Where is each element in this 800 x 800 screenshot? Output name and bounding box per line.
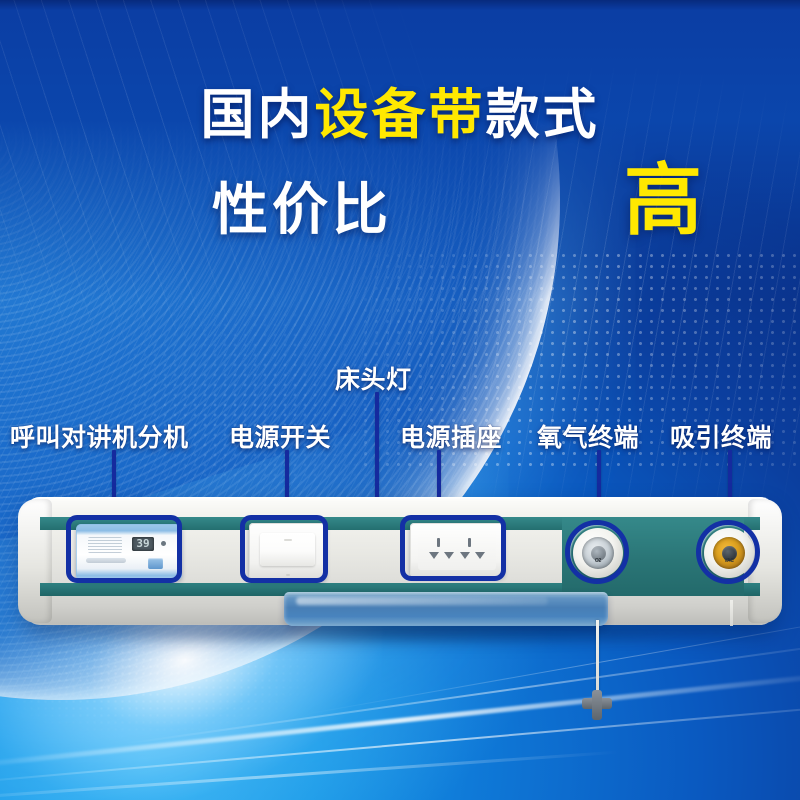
callout-label-oxygen-terminal: 氧气终端 xyxy=(537,418,639,454)
highlight-box-intercom xyxy=(66,515,182,583)
callout-label-suction-terminal: 吸引终端 xyxy=(670,418,772,454)
highlight-circle-suction-terminal xyxy=(696,520,760,584)
headline-part-1: 国内 xyxy=(201,85,315,145)
bed-lamp-diffuser[interactable] xyxy=(284,592,608,626)
cord-plug-icon xyxy=(582,690,612,720)
lamp-highlight xyxy=(296,597,548,605)
headline-line-2: 性价比 高 xyxy=(62,165,738,246)
headline-part-3: 款式 xyxy=(486,85,600,145)
highlight-circle-oxygen-terminal xyxy=(565,520,629,584)
headline-line-1: 国内设备带款式 xyxy=(0,88,800,142)
callout-label-power-switch: 电源开关 xyxy=(229,418,331,454)
plug-stem xyxy=(592,690,602,720)
promo-banner: 国内设备带款式 性价比 高 呼叫对讲机分机 电源开关 床头灯 电源插座 氧气终端… xyxy=(0,0,800,800)
headline-part-2: 设备带 xyxy=(315,85,486,145)
highlight-box-power-socket xyxy=(400,515,506,581)
callout-label-intercom: 呼叫对讲机分机 xyxy=(10,418,189,454)
callout-label-power-socket: 电源插座 xyxy=(400,418,502,454)
headline-high-char: 高 xyxy=(624,165,702,237)
oxygen-pull-cord xyxy=(596,620,599,698)
suction-pull-cord xyxy=(730,600,733,626)
top-edge-band xyxy=(0,0,800,10)
highlight-box-power-switch xyxy=(240,515,328,583)
callout-label-bed-lamp: 床头灯 xyxy=(335,360,412,396)
headline-value-phrase: 性价比 xyxy=(212,165,392,246)
